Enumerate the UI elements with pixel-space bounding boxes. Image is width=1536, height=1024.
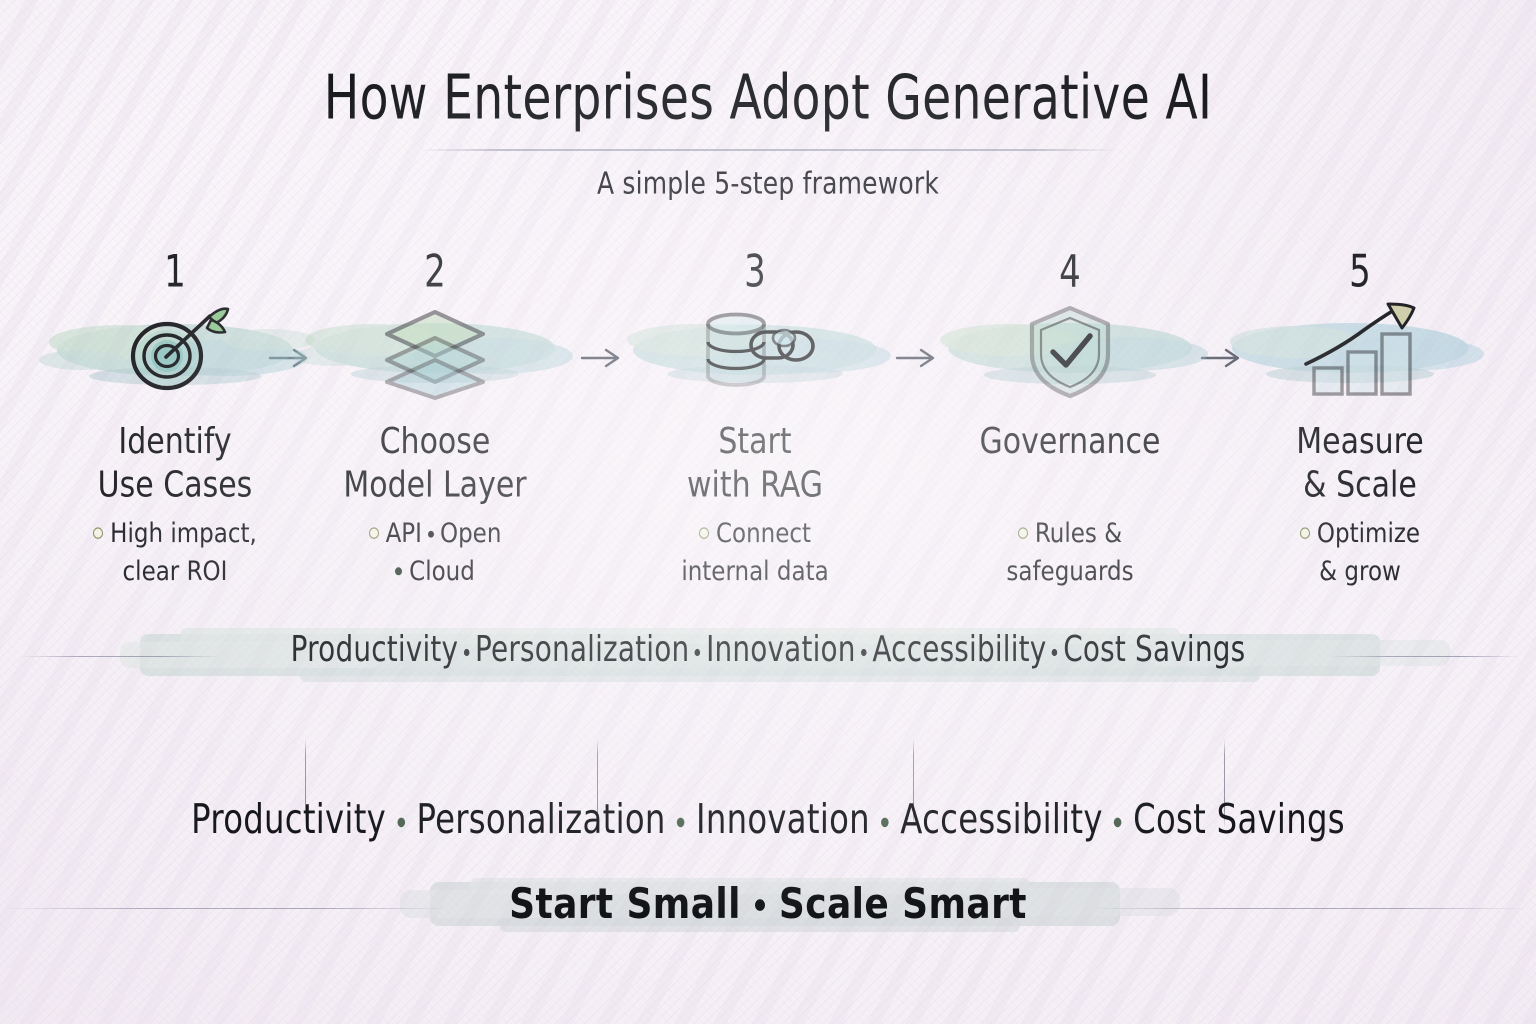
footer-part2: Scale Smart [779, 881, 1027, 929]
benefit-item: Accessibility [900, 796, 1102, 844]
step-title-line1: Governance [980, 421, 1161, 462]
step-number: 2 [310, 250, 560, 305]
step-bullets: Connect internal data [630, 516, 880, 590]
bullet-dot-icon [369, 528, 379, 539]
step-bullet-line2: Cloud [310, 554, 560, 591]
benefits-row: ProductivityPersonalizationInnovationAcc… [38, 796, 1497, 844]
step-bullet-line2: & grow [1235, 554, 1485, 591]
step-number: 5 [1235, 250, 1485, 305]
step-bullet-line1: Rules & [945, 516, 1195, 553]
bullet-dot-icon [93, 528, 103, 539]
page-subtitle: A simple 5-step framework [0, 166, 1536, 201]
arrow-right-icon [895, 346, 941, 374]
step-bullet-line2: internal data [630, 554, 880, 591]
step-bullets: APIOpen Cloud [310, 516, 560, 590]
target-arrow-icon [117, 304, 233, 400]
step-number: 3 [630, 250, 880, 305]
step-bullets: Rules & safeguards [945, 516, 1195, 590]
benefit-item: Productivity [191, 796, 386, 844]
bullet-dot-icon [395, 567, 402, 575]
step-icon-stage [630, 298, 880, 406]
page-title: How Enterprises Adopt Generative AI [27, 62, 1509, 135]
step-card-1[interactable]: 1 [50, 250, 300, 582]
step-title: Governance [945, 420, 1195, 464]
step-card-4[interactable]: 4 Governance [945, 250, 1195, 582]
step-title: Measure & Scale [1235, 420, 1485, 508]
separator-dot-icon [397, 818, 405, 828]
bullet-dot-icon [1300, 528, 1310, 539]
database-link-icon [692, 306, 818, 398]
benefit-item: Innovation [706, 629, 856, 671]
step-bullets: Optimize & grow [1235, 516, 1485, 590]
separator-dot-icon [695, 649, 701, 656]
step-icon-stage [945, 298, 1195, 406]
separator-dot-icon [1052, 649, 1058, 656]
benefits-band-text: ProductivityPersonalizationInnovationAcc… [54, 629, 1482, 671]
step-title-line2: Use Cases [98, 465, 253, 506]
bullet-dot-icon [1018, 528, 1028, 539]
step-bullet-line1: High impact, [50, 516, 300, 553]
step-title-line2: with RAG [687, 465, 823, 506]
benefit-item: Cost Savings [1063, 629, 1245, 671]
step-bullet-line1: APIOpen [310, 516, 560, 553]
step-icon-stage [50, 298, 300, 406]
step-icon-stage [1235, 298, 1485, 406]
benefit-item: Personalization [416, 796, 665, 844]
stacked-layers-icon [379, 304, 491, 400]
step-card-2[interactable]: 2 Choose [310, 250, 560, 582]
benefits-band: ProductivityPersonalizationInnovationAcc… [0, 618, 1536, 696]
steps-row: 1 [0, 250, 1536, 590]
footer-band: Start SmallScale Smart [0, 870, 1536, 946]
step-title-line2: Model Layer [343, 465, 526, 506]
shield-check-icon [1022, 302, 1118, 402]
separator-dot-icon [881, 818, 889, 828]
step-number: 1 [50, 250, 300, 305]
step-card-3[interactable]: 3 [630, 250, 880, 582]
separator-dot-icon [428, 531, 434, 538]
arrow-right-icon [580, 346, 626, 374]
step-bullets: High impact, clear ROI [50, 516, 300, 590]
step-title-line1: Choose [380, 421, 491, 462]
infographic-sheet: How Enterprises Adopt Generative AI A si… [0, 0, 1536, 1024]
benefit-item: Accessibility [872, 629, 1046, 671]
benefit-item: Cost Savings [1133, 796, 1345, 844]
growth-bar-chart-icon [1296, 302, 1424, 402]
separator-dot-icon [677, 818, 685, 828]
separator-dot-icon [464, 649, 470, 656]
step-number: 4 [945, 250, 1195, 305]
step-icon-stage [310, 298, 560, 406]
step-bullet-line1: Optimize [1235, 516, 1485, 553]
separator-dot-icon [1114, 818, 1122, 828]
step-title-line2: & Scale [1303, 465, 1417, 506]
step-bullet-line1: Connect [630, 516, 880, 553]
footer-tagline: Start SmallScale Smart [0, 881, 1536, 929]
title-divider [418, 149, 1118, 151]
step-title-line1: Measure [1296, 421, 1424, 462]
step-title: Choose Model Layer [310, 420, 560, 508]
step-card-5[interactable]: 5 Meas [1235, 250, 1485, 582]
step-title: Identify Use Cases [50, 420, 300, 508]
benefit-item: Personalization [475, 629, 689, 671]
step-title-line1: Start [718, 421, 791, 462]
step-bullet-line2: clear ROI [50, 554, 300, 591]
footer-part1: Start Small [509, 881, 741, 929]
step-bullet-line2: safeguards [945, 553, 1195, 590]
benefit-item: Innovation [696, 796, 870, 844]
benefit-item: Productivity [291, 629, 459, 671]
separator-dot-icon [861, 649, 867, 656]
step-title-line1: Identify [118, 421, 231, 462]
separator-dot-icon [755, 899, 765, 911]
step-title: Start with RAG [630, 420, 880, 508]
header: How Enterprises Adopt Generative AI A si… [0, 62, 1536, 198]
bullet-dot-icon [699, 528, 709, 539]
